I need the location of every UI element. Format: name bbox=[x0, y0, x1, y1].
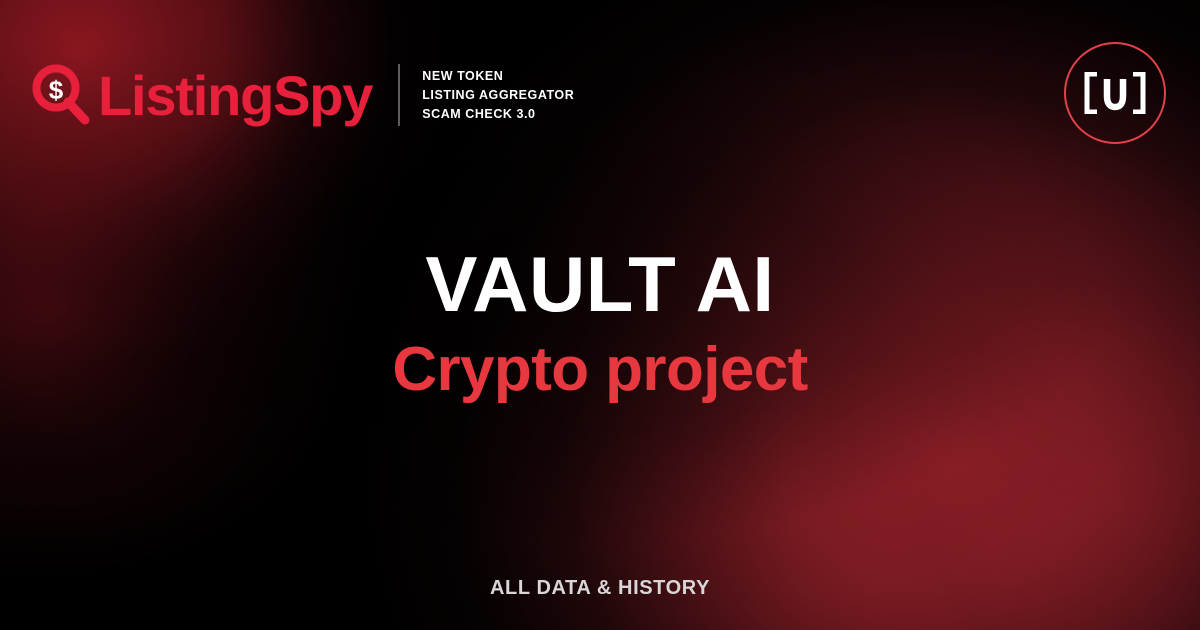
footer-note: ALL DATA & HISTORY bbox=[0, 577, 1200, 600]
hero-subtitle: Crypto project bbox=[0, 337, 1200, 404]
tagline-line-1: NEW TOKEN bbox=[422, 69, 503, 83]
promo-card: $ ListingSpy NEW TOKEN LISTING AGGREGATO… bbox=[0, 0, 1200, 630]
bracketed-v-icon bbox=[1084, 72, 1146, 114]
project-logo-badge[interactable] bbox=[1064, 42, 1166, 144]
hero-block: VAULT AI Crypto project bbox=[0, 244, 1200, 404]
magnifier-dollar-icon: $ bbox=[30, 64, 92, 126]
svg-text:$: $ bbox=[49, 75, 64, 105]
tagline-line-3: SCAM CHECK 3.0 bbox=[422, 107, 535, 121]
hero-title: VAULT AI bbox=[0, 244, 1200, 325]
brand-name: ListingSpy bbox=[98, 68, 372, 124]
brand-lockup[interactable]: $ ListingSpy NEW TOKEN LISTING AGGREGATO… bbox=[30, 52, 574, 138]
brand-divider bbox=[398, 64, 400, 126]
brand-tagline: NEW TOKEN LISTING AGGREGATOR SCAM CHECK … bbox=[422, 67, 574, 124]
tagline-line-2: LISTING AGGREGATOR bbox=[422, 88, 574, 102]
